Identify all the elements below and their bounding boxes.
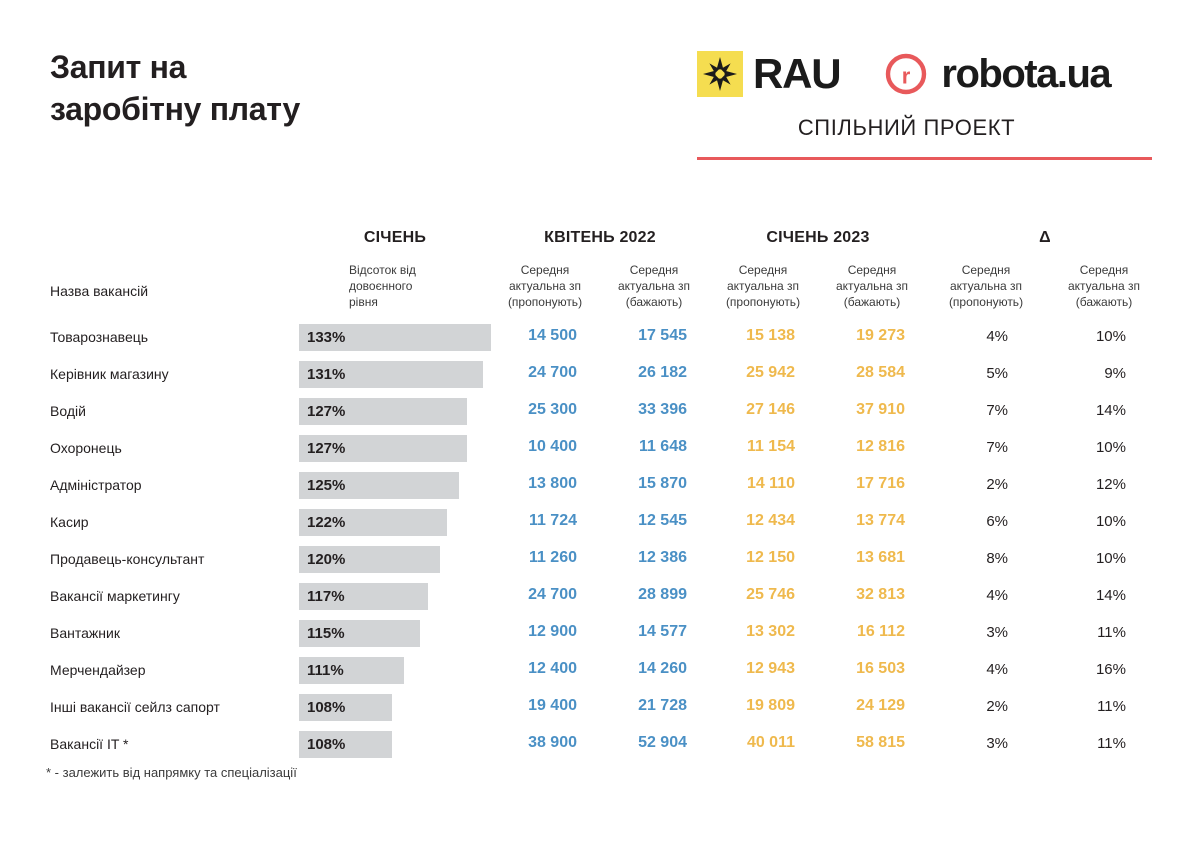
delta-value: 4% — [927, 587, 1045, 604]
salary-value: 13 800 — [491, 475, 599, 493]
salary-value: 12 400 — [491, 660, 599, 678]
percent-bar-value: 120% — [307, 551, 345, 568]
table-row: Касир122%11 72412 54512 43413 7746%10% — [0, 505, 1200, 542]
sub-header-delta-desired: Середня актуальна зп (бажають) — [1045, 263, 1163, 310]
rau-logo: RAU — [697, 51, 840, 97]
footnote: * - залежить від напрямку та спеціалізац… — [46, 765, 297, 780]
table-row: Продавець-консультант120%11 26012 38612 … — [0, 542, 1200, 579]
salary-value: 17 545 — [599, 327, 709, 345]
delta-value: 11% — [1045, 735, 1163, 752]
salary-value: 28 584 — [817, 364, 927, 382]
percent-bar: 122% — [299, 509, 447, 536]
percent-bar-value: 125% — [307, 477, 345, 494]
percent-bar-value: 131% — [307, 366, 345, 383]
group-header-january-2023: СІЧЕНЬ 2023 — [709, 229, 927, 247]
svg-text:r: r — [902, 64, 911, 89]
salary-value: 32 813 — [817, 586, 927, 604]
percent-bar-value: 115% — [307, 625, 345, 642]
percent-bar: 117% — [299, 583, 428, 610]
row-label-vacancy: Охоронець — [50, 440, 122, 456]
row-label-vacancy: Продавець-консультант — [50, 551, 204, 567]
percent-bar: 108% — [299, 694, 392, 721]
salary-value: 12 545 — [599, 512, 709, 530]
brand-block: RAU r robota.ua СПІЛЬНИЙ ПРОЕКТ — [697, 45, 1152, 160]
salary-value: 16 503 — [817, 660, 927, 678]
sub-header-jan23-desired: Середня актуальна зп (бажають) — [817, 263, 927, 310]
table-row: Товарознавець133%14 50017 54515 13819 27… — [0, 320, 1200, 357]
salary-value: 14 500 — [491, 327, 599, 345]
table-body: Товарознавець133%14 50017 54515 13819 27… — [0, 320, 1200, 764]
delta-value: 10% — [1045, 550, 1163, 567]
delta-value: 9% — [1045, 365, 1163, 382]
salary-value: 13 774 — [817, 512, 927, 530]
salary-value: 19 809 — [709, 697, 817, 715]
salary-value: 11 724 — [491, 512, 599, 530]
delta-value: 7% — [927, 402, 1045, 419]
delta-value: 16% — [1045, 661, 1163, 678]
delta-value: 14% — [1045, 587, 1163, 604]
salary-value: 21 728 — [599, 697, 709, 715]
table-row: Мерчендайзер111%12 40014 26012 94316 503… — [0, 653, 1200, 690]
percent-bar-cell: 108% — [299, 694, 392, 721]
row-label-vacancy: Товарознавець — [50, 329, 148, 345]
percent-bar: 115% — [299, 620, 420, 647]
robota-circled-r-icon: r — [884, 52, 928, 96]
salary-value: 24 129 — [817, 697, 927, 715]
delta-value: 11% — [1045, 698, 1163, 715]
salary-value: 13 302 — [709, 623, 817, 641]
joint-project-label: СПІЛЬНИЙ ПРОЕКТ — [697, 115, 1152, 141]
percent-bar-cell: 117% — [299, 583, 428, 610]
percent-bar-cell: 133% — [299, 324, 491, 351]
sub-header-delta-offered: Середня актуальна зп (пропонують) — [927, 263, 1045, 310]
salary-value: 26 182 — [599, 364, 709, 382]
salary-value: 12 943 — [709, 660, 817, 678]
delta-value: 4% — [927, 661, 1045, 678]
percent-bar-cell: 111% — [299, 657, 404, 684]
salary-table: Назва вакансій СІЧЕНЬ КВІТЕНЬ 2022 СІЧЕН… — [0, 205, 1200, 764]
salary-value: 12 900 — [491, 623, 599, 641]
percent-bar-value: 108% — [307, 699, 345, 716]
percent-bar-value: 122% — [307, 514, 345, 531]
percent-bar-cell: 127% — [299, 398, 467, 425]
salary-value: 38 900 — [491, 734, 599, 752]
row-label-vacancy: Адміністратор — [50, 477, 142, 493]
percent-bar-value: 111% — [307, 662, 344, 679]
robota-logo: r robota.ua — [884, 52, 1110, 96]
delta-value: 2% — [927, 476, 1045, 493]
rau-wordmark: RAU — [753, 53, 840, 95]
percent-bar-value: 117% — [307, 588, 345, 605]
percent-bar: 108% — [299, 731, 392, 758]
delta-value: 4% — [927, 328, 1045, 345]
salary-value: 15 870 — [599, 475, 709, 493]
salary-value: 15 138 — [709, 327, 817, 345]
delta-value: 10% — [1045, 328, 1163, 345]
group-header-delta: Δ — [927, 229, 1163, 247]
salary-value: 40 011 — [709, 734, 817, 752]
salary-value: 27 146 — [709, 401, 817, 419]
table-row: Вантажник115%12 90014 57713 30216 1123%1… — [0, 616, 1200, 653]
percent-bar: 127% — [299, 398, 467, 425]
salary-value: 13 681 — [817, 549, 927, 567]
salary-value: 12 434 — [709, 512, 817, 530]
delta-value: 12% — [1045, 476, 1163, 493]
table-row: Вакансії маркетингу117%24 70028 89925 74… — [0, 579, 1200, 616]
delta-value: 7% — [927, 439, 1045, 456]
delta-value: 10% — [1045, 439, 1163, 456]
percent-bar: 133% — [299, 324, 491, 351]
sub-header-percent-of-prewar: Відсоток від довоєнного рівня — [299, 263, 491, 310]
percent-bar-cell: 122% — [299, 509, 447, 536]
percent-bar-cell: 125% — [299, 472, 459, 499]
salary-value: 25 942 — [709, 364, 817, 382]
salary-value: 17 716 — [817, 475, 927, 493]
delta-value: 5% — [927, 365, 1045, 382]
row-label-vacancy: Вакансії IT * — [50, 736, 129, 752]
group-header-january: СІЧЕНЬ — [299, 229, 491, 247]
percent-bar: 131% — [299, 361, 483, 388]
salary-value: 11 154 — [709, 438, 817, 456]
group-header-april-2022: КВІТЕНЬ 2022 — [491, 229, 709, 247]
delta-value: 6% — [927, 513, 1045, 530]
percent-bar-cell: 108% — [299, 731, 392, 758]
table-row: Вакансії IT *108%38 90052 90440 01158 81… — [0, 727, 1200, 764]
table-row: Інші вакансії сейлз сапорт108%19 40021 7… — [0, 690, 1200, 727]
salary-value: 12 150 — [709, 549, 817, 567]
delta-value: 3% — [927, 735, 1045, 752]
percent-bar-value: 127% — [307, 403, 345, 420]
delta-value: 8% — [927, 550, 1045, 567]
salary-value: 16 112 — [817, 623, 927, 641]
percent-bar: 120% — [299, 546, 440, 573]
row-label-vacancy: Вантажник — [50, 625, 120, 641]
rau-star-icon — [697, 51, 743, 97]
delta-value: 3% — [927, 624, 1045, 641]
salary-value: 14 110 — [709, 475, 817, 493]
sub-header-jan23-offered: Середня актуальна зп (пропонують) — [709, 263, 817, 310]
delta-value: 10% — [1045, 513, 1163, 530]
delta-value: 14% — [1045, 402, 1163, 419]
salary-value: 25 746 — [709, 586, 817, 604]
page-title: Запит на заробітну плату — [50, 46, 300, 130]
salary-value: 11 260 — [491, 549, 599, 567]
salary-value: 10 400 — [491, 438, 599, 456]
percent-bar-value: 108% — [307, 736, 345, 753]
percent-bar-cell: 131% — [299, 361, 483, 388]
column-header-vacancy-name: Назва вакансій — [50, 283, 148, 299]
table-row: Охоронець127%10 40011 64811 15412 8167%1… — [0, 431, 1200, 468]
salary-value: 33 396 — [599, 401, 709, 419]
salary-value: 25 300 — [491, 401, 599, 419]
row-label-vacancy: Інші вакансії сейлз сапорт — [50, 699, 220, 715]
percent-bar-cell: 115% — [299, 620, 420, 647]
salary-value: 14 260 — [599, 660, 709, 678]
delta-value: 2% — [927, 698, 1045, 715]
salary-value: 19 273 — [817, 327, 927, 345]
row-label-vacancy: Касир — [50, 514, 89, 530]
row-label-vacancy: Керівник магазину — [50, 366, 169, 382]
percent-bar-cell: 127% — [299, 435, 467, 462]
salary-value: 24 700 — [491, 586, 599, 604]
brand-logos: RAU r robota.ua — [697, 45, 1152, 103]
table-row: Водій127%25 30033 39627 14637 9107%14% — [0, 394, 1200, 431]
row-label-vacancy: Вакансії маркетингу — [50, 588, 180, 604]
salary-value: 14 577 — [599, 623, 709, 641]
sub-header-apr22-desired: Середня актуальна зп (бажають) — [599, 263, 709, 310]
salary-value: 19 400 — [491, 697, 599, 715]
salary-value: 11 648 — [599, 438, 709, 456]
salary-value: 52 904 — [599, 734, 709, 752]
row-label-vacancy: Мерчендайзер — [50, 662, 146, 678]
table-row: Керівник магазину131%24 70026 18225 9422… — [0, 357, 1200, 394]
salary-value: 37 910 — [817, 401, 927, 419]
percent-bar-value: 127% — [307, 440, 345, 457]
sub-header-apr22-offered: Середня актуальна зп (пропонують) — [491, 263, 599, 310]
delta-value: 11% — [1045, 624, 1163, 641]
salary-value: 58 815 — [817, 734, 927, 752]
salary-value: 12 386 — [599, 549, 709, 567]
table-header: Назва вакансій СІЧЕНЬ КВІТЕНЬ 2022 СІЧЕН… — [0, 205, 1200, 320]
percent-bar: 111% — [299, 657, 404, 684]
percent-bar-cell: 120% — [299, 546, 440, 573]
salary-value: 28 899 — [599, 586, 709, 604]
table-row: Адміністратор125%13 80015 87014 11017 71… — [0, 468, 1200, 505]
percent-bar: 125% — [299, 472, 459, 499]
brand-divider — [697, 157, 1152, 160]
salary-value: 12 816 — [817, 438, 927, 456]
infographic-header: Запит на заробітну плату — [0, 0, 1200, 185]
percent-bar-value: 133% — [307, 329, 345, 346]
row-label-vacancy: Водій — [50, 403, 86, 419]
robota-wordmark: robota.ua — [941, 54, 1110, 94]
salary-value: 24 700 — [491, 364, 599, 382]
percent-bar: 127% — [299, 435, 467, 462]
